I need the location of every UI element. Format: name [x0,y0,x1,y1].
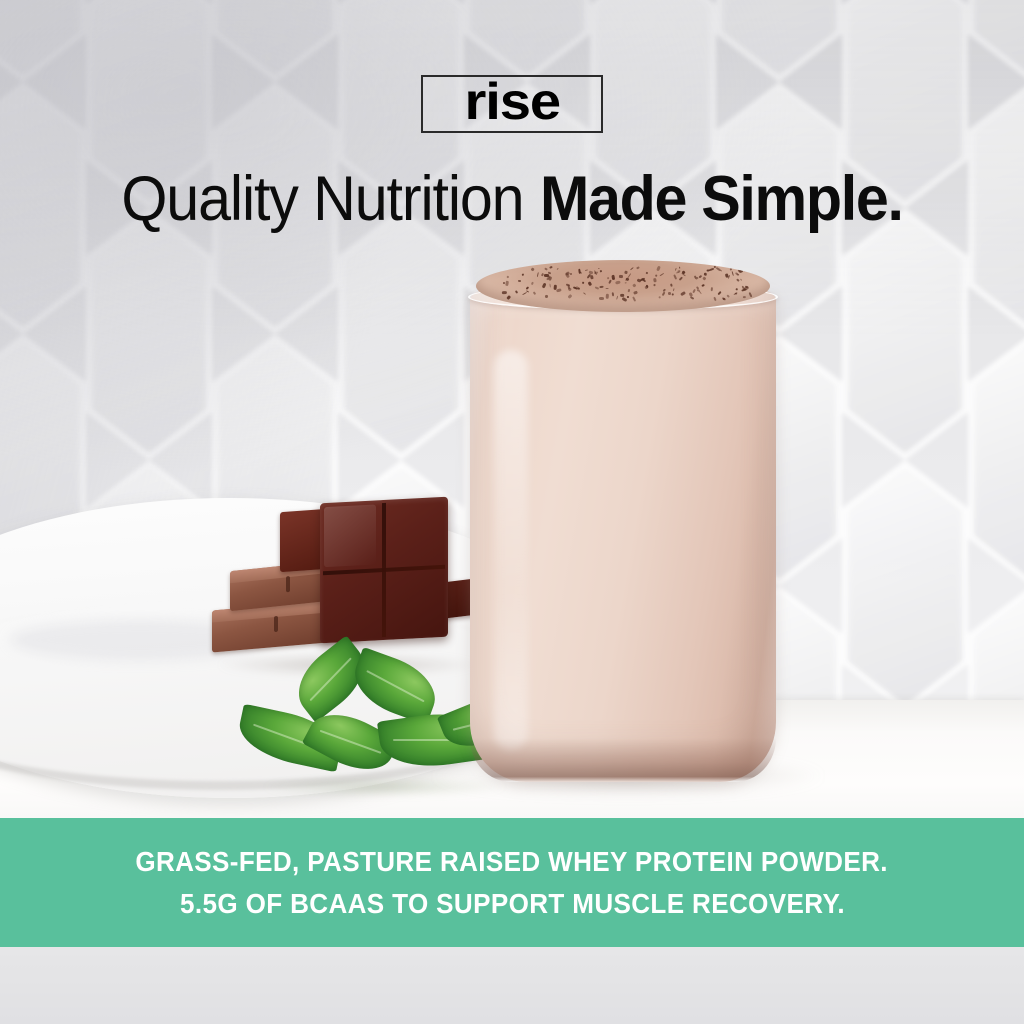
glass-highlight [494,350,528,750]
rise-logo[interactable]: rise [421,75,603,133]
page-title: Quality Nutrition Made Simple. [31,168,994,231]
product-marketing-image: rise Quality Nutrition Made Simple. GRAS… [0,0,1024,1024]
chocolate-gloss-highlight [324,504,376,567]
footer-strip [0,947,1024,1024]
chocolate-bar-notch [286,576,290,592]
chocolate-block-2x2 [320,497,448,644]
logo-wordmark: rise [464,79,560,126]
claims-banner: GRASS-FED, PASTURE RAISED WHEY PROTEIN P… [0,818,1024,947]
headline-light-text: Quality Nutrition [121,164,523,234]
cocoa-shavings [476,260,770,312]
mint-leaf [346,647,445,725]
protein-shake-glass [462,268,784,788]
banner-line-1: GRASS-FED, PASTURE RAISED WHEY PROTEIN P… [136,848,889,876]
glass-body [470,290,776,782]
chocolate-bar-notch [274,616,278,632]
chocolate-foam-top [476,260,770,312]
headline-bold-text: Made Simple. [540,164,903,234]
banner-line-2: 5.5G OF BCAAS TO SUPPORT MUSCLE RECOVERY… [180,890,845,918]
